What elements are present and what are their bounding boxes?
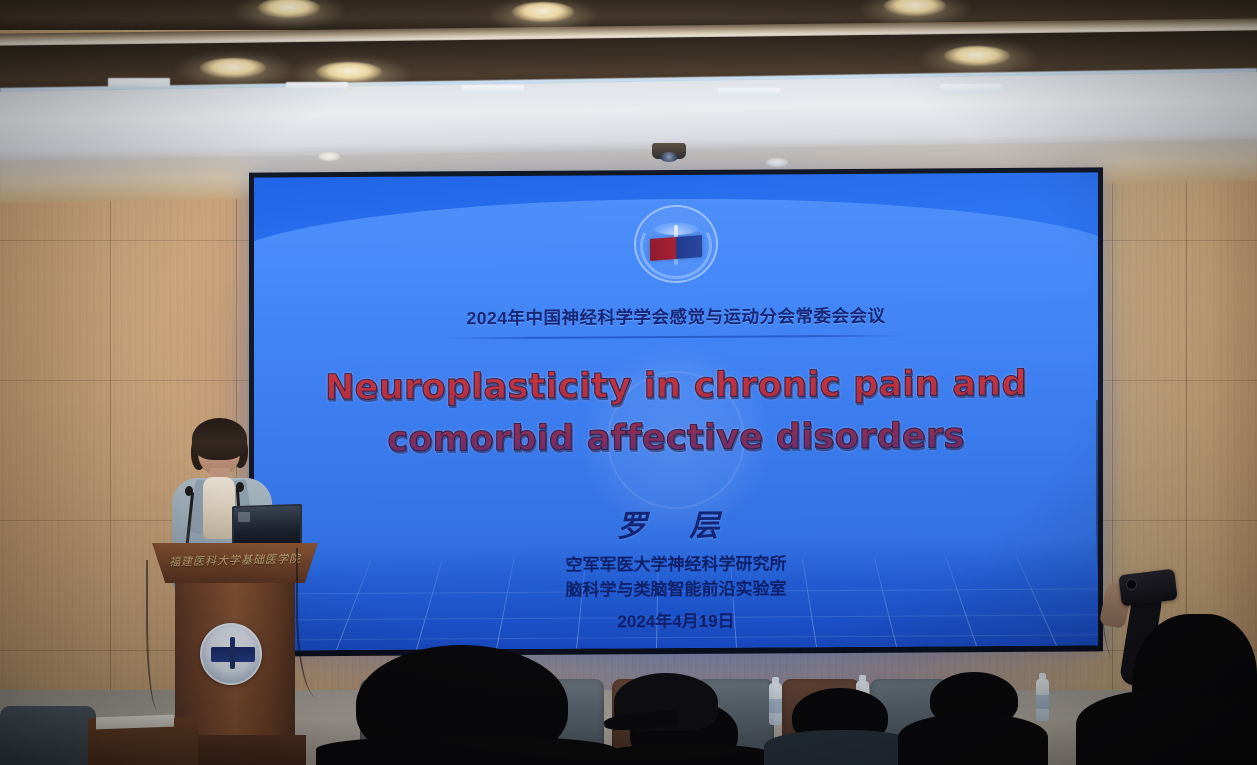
ceiling-spotlight <box>944 46 1010 66</box>
conference-hall-photo: 2024年中国神经科学学会感觉与运动分会常委会会议 Neuroplasticit… <box>0 0 1257 765</box>
bottle-label <box>1036 695 1049 709</box>
photographer-shoulders <box>1076 690 1257 765</box>
slide-main-title: Neuroplasticity in chronic pain and como… <box>280 359 1072 467</box>
audience-shoulders <box>764 730 920 765</box>
slide-title-line-2: comorbid affective disorders <box>280 410 1072 467</box>
slide-affiliation: 空军军医大学神经科学研究所 脑科学与类脑智能前沿实验室 <box>254 550 1098 604</box>
ceiling-led-panel <box>108 78 170 87</box>
slide-title-line-1: Neuroplasticity in chronic pain and <box>280 359 1072 416</box>
ceiling-led-panel <box>940 84 1002 93</box>
speaker-scarf <box>203 477 235 539</box>
speaker-hair <box>192 418 247 460</box>
slide-date: 2024年4月19日 <box>254 604 1098 634</box>
side-chair <box>0 706 96 765</box>
presenter-laptop[interactable] <box>232 504 302 548</box>
ceiling-spotlight <box>512 2 574 22</box>
slide-affiliation-line-2: 脑科学与类脑智能前沿实验室 <box>254 575 1098 605</box>
slide-conference-header: 2024年中国神经科学学会感觉与运动分会常委会会议 <box>254 301 1098 331</box>
bottle-label <box>769 699 782 713</box>
ceiling-spotlight <box>316 62 382 82</box>
podium-seal-icon <box>200 623 262 685</box>
ceiling-led-panel <box>462 85 524 94</box>
conference-emblem-icon <box>634 205 718 284</box>
emblem-flag-icon <box>650 235 702 261</box>
ceiling-spotlight <box>200 58 266 78</box>
audience-shoulders <box>316 736 616 765</box>
laptop-badge <box>238 512 250 522</box>
ceiling-downlight <box>318 152 340 161</box>
ceiling-led-panel <box>286 82 348 91</box>
water-bottle <box>769 683 782 725</box>
slide-speaker-name: 罗 层 <box>254 498 1098 547</box>
audience-member-with-cap <box>608 673 728 765</box>
projection-screen: 2024年中国神经科学学会感觉与运动分会常委会会议 Neuroplasticit… <box>254 172 1098 650</box>
projector-lens-icon <box>660 152 678 162</box>
ceiling-led-panel <box>718 88 780 97</box>
presentation-slide: 2024年中国神经科学学会感觉与运动分会常委会会议 Neuroplasticit… <box>254 172 1098 650</box>
audience-shoulders <box>898 714 1048 765</box>
water-bottle <box>1036 679 1049 721</box>
ceiling-downlight <box>766 158 788 167</box>
